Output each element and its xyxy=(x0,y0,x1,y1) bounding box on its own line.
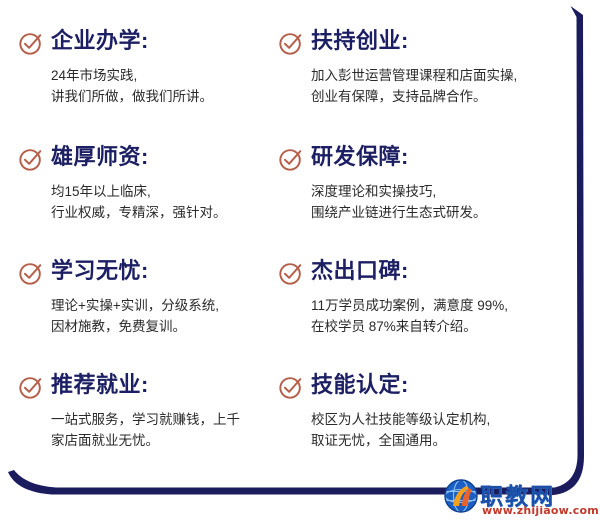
feature-body-line: 在校学员 87%来自转介绍。 xyxy=(311,316,570,337)
feature-card: 学习无忧: 理论+实操+实训，分级系统, 因材施教，免费复训。 xyxy=(18,258,310,337)
circle-check-icon xyxy=(18,30,44,56)
feature-body: 一站式服务，学习就赚钱，上千 家店面就业无忧。 xyxy=(51,409,310,451)
feature-grid: 企业办学: 24年市场实践, 讲我们所做，做我们所讲。 扶持创业: 加入彭世运营… xyxy=(0,0,600,470)
feature-card: 推荐就业: 一站式服务，学习就赚钱，上千 家店面就业无忧。 xyxy=(18,372,310,451)
site-logo: 职教网 www.zhijiaow.com xyxy=(444,477,596,519)
feature-card: 扶持创业: 加入彭世运营管理课程和店面实操, 创业有保障，支持品牌合作。 xyxy=(278,28,570,107)
feature-body: 11万学员成功案例，满意度 99%, 在校学员 87%来自转介绍。 xyxy=(311,295,570,337)
feature-body-line: 均15年以上临床, xyxy=(51,181,310,202)
circle-check-icon xyxy=(18,146,44,172)
feature-body: 加入彭世运营管理课程和店面实操, 创业有保障，支持品牌合作。 xyxy=(311,65,570,107)
feature-body-line: 围绕产业链进行生态式研发。 xyxy=(311,202,570,223)
feature-card: 研发保障: 深度理论和实操技巧, 围绕产业链进行生态式研发。 xyxy=(278,144,570,223)
feature-body-line: 11万学员成功案例，满意度 99%, xyxy=(311,295,570,316)
feature-body-line: 讲我们所做，做我们所讲。 xyxy=(51,86,310,107)
feature-heading-row: 企业办学: xyxy=(18,28,310,58)
feature-heading-row: 研发保障: xyxy=(278,144,570,174)
feature-body-line: 校区为人社技能等级认定机构, xyxy=(311,409,570,430)
feature-body-line: 理论+实操+实训，分级系统, xyxy=(51,295,310,316)
feature-title: 扶持创业: xyxy=(311,28,409,54)
feature-heading-row: 雄厚师资: xyxy=(18,144,310,174)
circle-check-icon xyxy=(18,374,44,400)
feature-heading-row: 扶持创业: xyxy=(278,28,570,58)
feature-title: 推荐就业: xyxy=(51,372,149,398)
poster-canvas: 企业办学: 24年市场实践, 讲我们所做，做我们所讲。 扶持创业: 加入彭世运营… xyxy=(0,0,600,521)
circle-check-icon xyxy=(278,260,304,286)
feature-card: 雄厚师资: 均15年以上临床, 行业权威，专精深，强针对。 xyxy=(18,144,310,223)
feature-title: 技能认定: xyxy=(311,372,409,398)
feature-title: 研发保障: xyxy=(311,144,409,170)
feature-title: 杰出口碑: xyxy=(311,258,409,284)
feature-title: 企业办学: xyxy=(51,28,149,54)
feature-card: 企业办学: 24年市场实践, 讲我们所做，做我们所讲。 xyxy=(18,28,310,107)
feature-heading-row: 技能认定: xyxy=(278,372,570,402)
feature-body: 深度理论和实操技巧, 围绕产业链进行生态式研发。 xyxy=(311,181,570,223)
feature-body-line: 深度理论和实操技巧, xyxy=(311,181,570,202)
circle-check-icon xyxy=(278,146,304,172)
feature-body: 理论+实操+实训，分级系统, 因材施教，免费复训。 xyxy=(51,295,310,337)
circle-check-icon xyxy=(278,374,304,400)
globe-logo-icon xyxy=(444,479,478,513)
feature-body-line: 24年市场实践, xyxy=(51,65,310,86)
feature-body-line: 一站式服务，学习就赚钱，上千 xyxy=(51,409,310,430)
feature-body-line: 创业有保障，支持品牌合作。 xyxy=(311,86,570,107)
feature-heading-row: 杰出口碑: xyxy=(278,258,570,288)
feature-body: 校区为人社技能等级认定机构, 取证无忧，全国通用。 xyxy=(311,409,570,451)
feature-title: 学习无忧: xyxy=(51,258,149,284)
feature-body-line: 家店面就业无忧。 xyxy=(51,430,310,451)
feature-card: 杰出口碑: 11万学员成功案例，满意度 99%, 在校学员 87%来自转介绍。 xyxy=(278,258,570,337)
circle-check-icon xyxy=(18,260,44,286)
feature-body: 24年市场实践, 讲我们所做，做我们所讲。 xyxy=(51,65,310,107)
feature-card: 技能认定: 校区为人社技能等级认定机构, 取证无忧，全国通用。 xyxy=(278,372,570,451)
feature-body-line: 因材施教，免费复训。 xyxy=(51,316,310,337)
logo-url: www.zhijiaow.com xyxy=(482,504,599,517)
feature-body-line: 取证无忧，全国通用。 xyxy=(311,430,570,451)
feature-heading-row: 学习无忧: xyxy=(18,258,310,288)
feature-body-line: 加入彭世运营管理课程和店面实操, xyxy=(311,65,570,86)
feature-heading-row: 推荐就业: xyxy=(18,372,310,402)
feature-title: 雄厚师资: xyxy=(51,144,149,170)
circle-check-icon xyxy=(278,30,304,56)
feature-body-line: 行业权威，专精深，强针对。 xyxy=(51,202,310,223)
feature-body: 均15年以上临床, 行业权威，专精深，强针对。 xyxy=(51,181,310,223)
